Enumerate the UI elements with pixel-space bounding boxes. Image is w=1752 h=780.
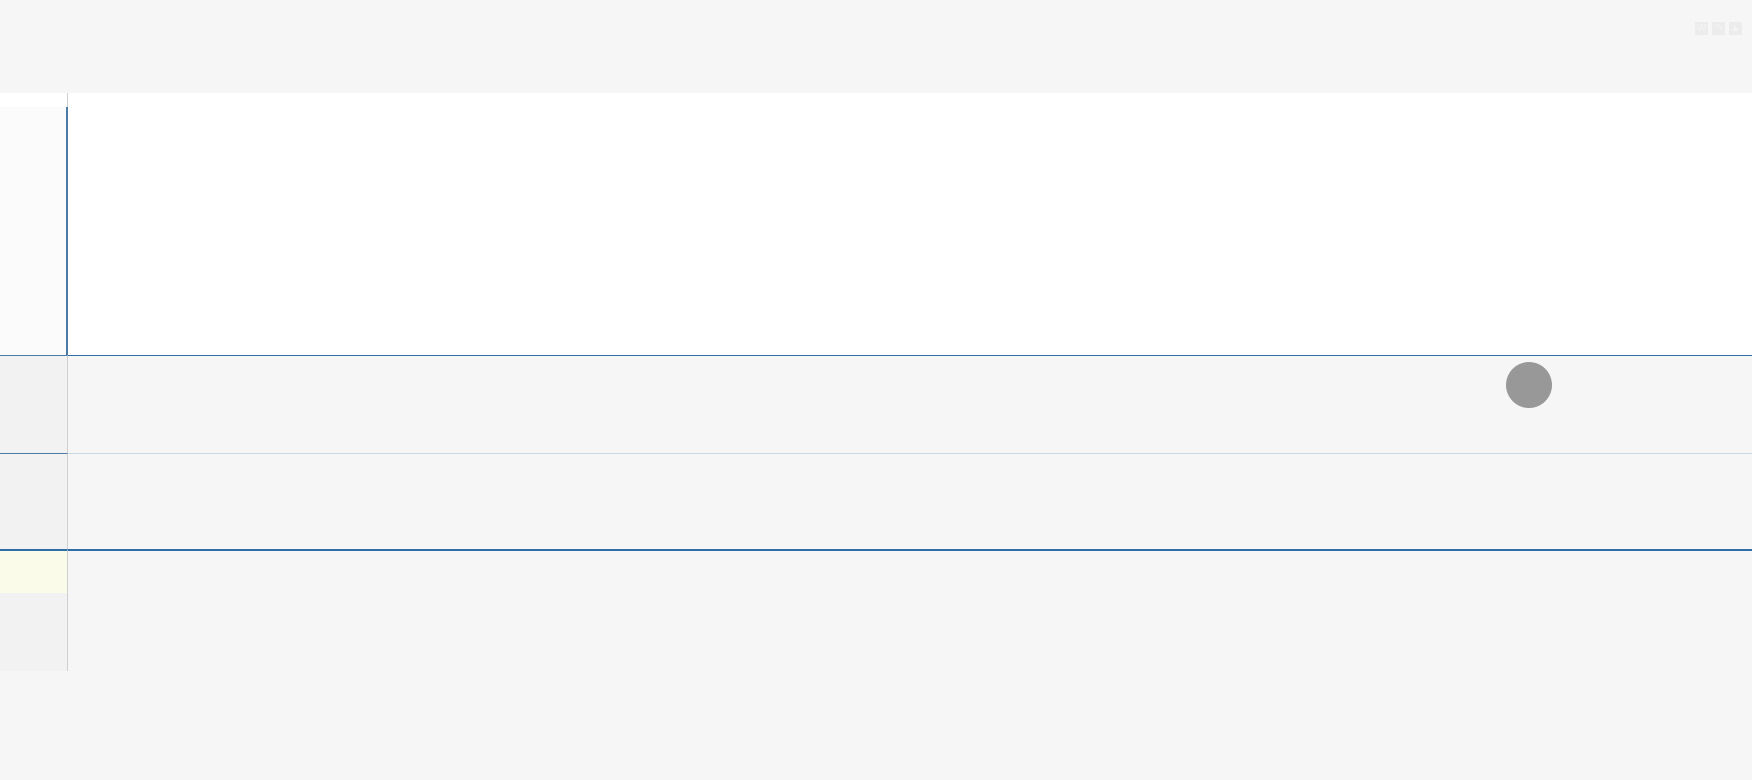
watermark-top: W ↷ ▲ xyxy=(1691,22,1742,35)
high-tide-cells xyxy=(68,355,1752,453)
tide-chart-row xyxy=(0,107,1752,355)
low-tide-label xyxy=(0,453,68,549)
sun-cells xyxy=(68,549,1752,593)
page-footer xyxy=(0,63,1752,93)
page-header: W ↷ ▲ xyxy=(0,0,1752,63)
high-tide-row xyxy=(0,355,1752,453)
watermark-peak-icon: ▲ xyxy=(1729,22,1742,35)
low-tide-row xyxy=(0,453,1752,549)
watermark-refresh-icon: ↷ xyxy=(1712,22,1725,35)
moon-label xyxy=(0,593,68,671)
tide-curve-plot xyxy=(68,107,1752,355)
chart-y-axis xyxy=(0,107,68,355)
sun-label xyxy=(0,549,68,593)
moon-cells xyxy=(68,593,1752,671)
watermark-logo-icon: W xyxy=(1695,22,1708,35)
low-tide-cells xyxy=(68,453,1752,549)
high-tide-label xyxy=(0,355,68,453)
sun-row xyxy=(0,549,1752,593)
moon-row xyxy=(0,593,1752,671)
tide-table xyxy=(0,63,1752,780)
